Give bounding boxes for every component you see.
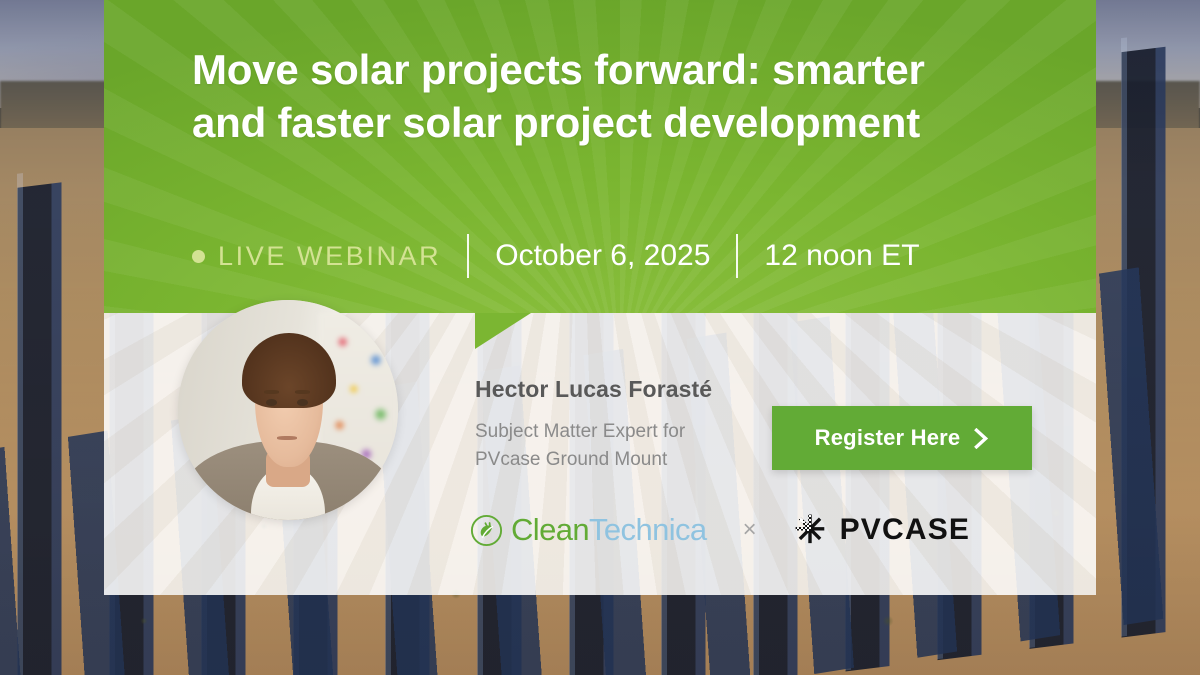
- register-here-button[interactable]: Register Here: [772, 406, 1032, 470]
- register-button-label: Register Here: [815, 425, 961, 451]
- live-webinar-badge: LIVE WEBINAR: [192, 241, 441, 272]
- webinar-title: Move solar projects forward: smarter and…: [192, 44, 952, 150]
- event-time: 12 noon ET: [764, 239, 919, 273]
- portrait-mouth: [277, 436, 297, 440]
- meta-divider: [736, 234, 738, 278]
- pvcase-logo[interactable]: PVCASE: [793, 513, 971, 547]
- speech-bubble-tail: [475, 313, 531, 349]
- leaf-circle-icon: [470, 514, 503, 547]
- speaker-portrait: [178, 300, 398, 520]
- partner-logos: CleanTechnica ×: [470, 512, 970, 548]
- cleantechnica-word-clean: Clean: [511, 512, 589, 547]
- chevron-right-icon: [974, 428, 989, 449]
- live-dot-icon: [192, 250, 205, 263]
- speaker-role: Subject Matter Expert for PVcase Ground …: [475, 418, 755, 473]
- cleantechnica-word-technica: Technica: [589, 512, 707, 547]
- portrait-eye-right: [297, 399, 308, 406]
- portrait-eye-left: [266, 399, 277, 406]
- speaker-role-line-1: Subject Matter Expert for: [475, 418, 755, 446]
- logo-separator-x: ×: [743, 516, 757, 544]
- headline-banner: Move solar projects forward: smarter and…: [104, 0, 1096, 313]
- pvcase-wordmark: PVCASE: [840, 513, 971, 547]
- webinar-promo-graphic: Move solar projects forward: smarter and…: [0, 0, 1200, 675]
- meta-divider: [467, 234, 469, 278]
- cleantechnica-logo[interactable]: CleanTechnica: [470, 512, 707, 548]
- speaker-name: Hector Lucas Forasté: [475, 376, 712, 403]
- event-date: October 6, 2025: [495, 239, 710, 273]
- cleantechnica-wordmark: CleanTechnica: [511, 512, 707, 548]
- starburst-icon: [793, 513, 827, 547]
- live-webinar-label: LIVE WEBINAR: [218, 241, 441, 272]
- speaker-role-line-2: PVcase Ground Mount: [475, 446, 755, 474]
- portrait-eyebrow-right: [295, 390, 310, 394]
- event-meta-row: LIVE WEBINAR October 6, 2025 12 noon ET: [192, 232, 920, 280]
- portrait-eyebrow-left: [264, 390, 279, 394]
